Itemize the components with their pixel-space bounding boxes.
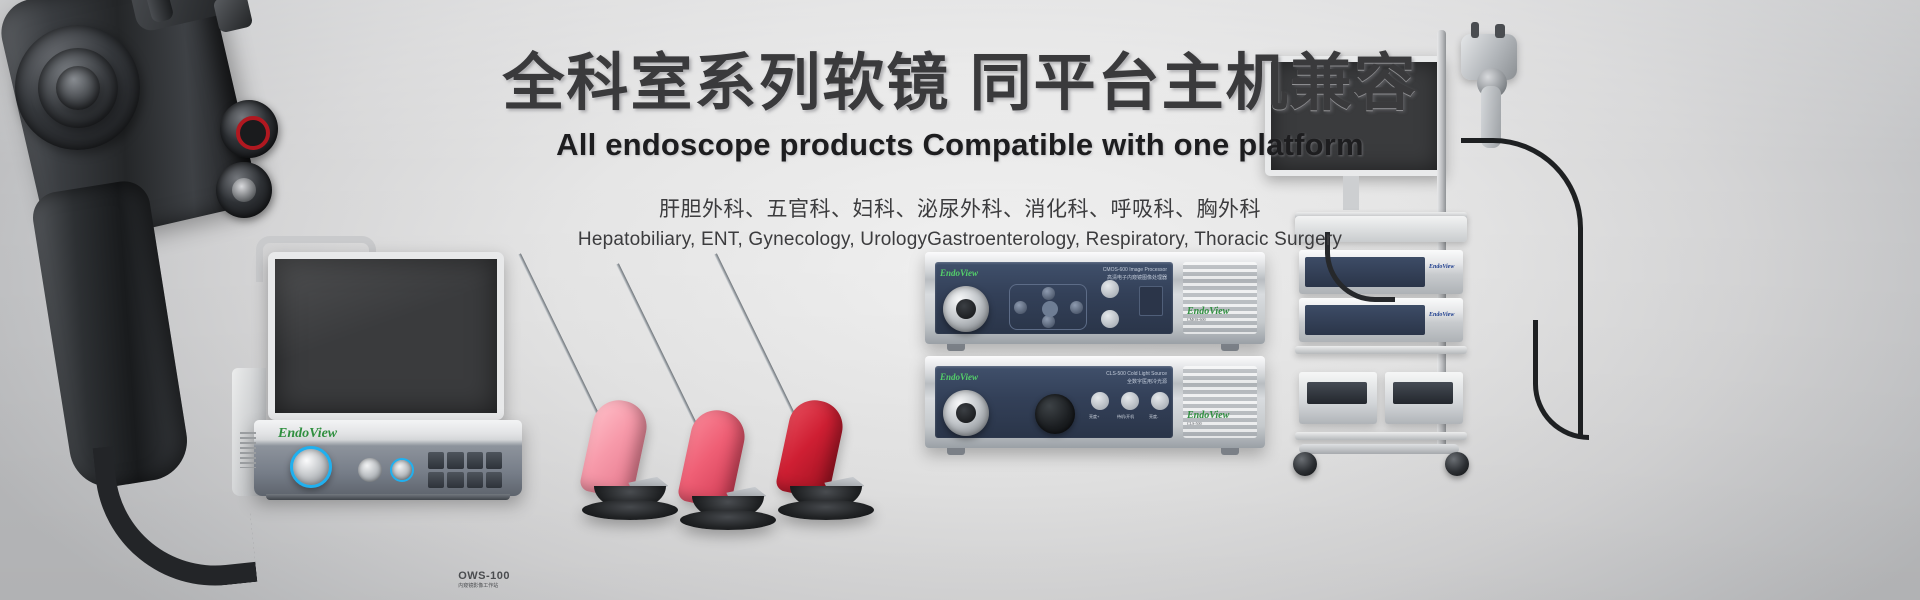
lightsource-vent-grille bbox=[1183, 366, 1257, 438]
workstation-brand-logo: EndoView bbox=[278, 426, 337, 442]
page-subtitle: All endoscope products Compatible with o… bbox=[0, 127, 1920, 163]
workstation-feet bbox=[266, 494, 510, 500]
workstation-model-label: OWS-100 内窥镜影像工作站 bbox=[458, 570, 510, 589]
lightsource-brand-logo: EndoView bbox=[940, 372, 978, 382]
lightsource-foot-left bbox=[947, 448, 965, 455]
cart-shelf-middle bbox=[1295, 346, 1467, 354]
brand-suffix: View bbox=[1209, 306, 1229, 317]
brand-prefix: Endo bbox=[940, 268, 960, 278]
lightsource-button-2 bbox=[1121, 392, 1139, 410]
promo-banner: 全科室系列软镜 同平台主机兼容 All endoscope products C… bbox=[0, 0, 1920, 600]
processor-usb-port bbox=[1139, 286, 1163, 316]
cart-shelf-bottom bbox=[1295, 432, 1467, 440]
cart-wheel-right bbox=[1445, 452, 1469, 476]
brand-prefix: Endo bbox=[940, 372, 960, 382]
lightsource-front-panel: EndoView CLS-500 Cold Light Source 全数字医用… bbox=[935, 366, 1173, 438]
workstation-main-connector bbox=[290, 446, 332, 488]
lightsource-title-en: CLS-500 Cold Light Source bbox=[1106, 371, 1167, 379]
processor-foot-left bbox=[947, 344, 965, 351]
workstation-keypad bbox=[428, 452, 502, 488]
brand-prefix: Endo bbox=[1187, 410, 1209, 421]
instrument-stand bbox=[778, 500, 874, 520]
lightsource-label-3: 亮度- bbox=[1149, 414, 1158, 420]
lightsource-label-1: 亮度+ bbox=[1089, 414, 1099, 420]
processor-side-model: CMOS-600 bbox=[1187, 317, 1229, 322]
departments-chinese: 肝胆外科、五官科、妇科、泌尿外科、消化科、呼吸科、胸外科 bbox=[0, 193, 1920, 223]
headline-block: 全科室系列软镜 同平台主机兼容 All endoscope products C… bbox=[0, 48, 1920, 251]
processor-foot-right bbox=[1221, 344, 1239, 351]
page-title: 全科室系列软镜 同平台主机兼容 bbox=[0, 48, 1920, 119]
workstation-port-1 bbox=[358, 458, 382, 482]
departments-english: Hepatobiliary, ENT, Gynecology, UrologyG… bbox=[0, 229, 1920, 251]
lightsource-brightness-dial bbox=[1035, 394, 1075, 434]
brand-prefix: Endo bbox=[1187, 306, 1209, 317]
cart-wheel-left bbox=[1293, 452, 1317, 476]
processor-enter-button bbox=[1101, 310, 1119, 328]
cart-base bbox=[1299, 444, 1459, 454]
cart-processor-2-panel bbox=[1305, 305, 1425, 335]
scope-button-block bbox=[213, 0, 254, 33]
brand-suffix: View bbox=[1442, 312, 1454, 318]
lightsource-button-1 bbox=[1091, 392, 1109, 410]
image-processor-unit: EndoView CMOS-600 Image Processor 高清电子内窥… bbox=[925, 252, 1265, 344]
rigid-instrument-red bbox=[708, 250, 878, 550]
workstation-port-2 bbox=[390, 458, 414, 482]
brand-prefix: Endo bbox=[1429, 264, 1442, 270]
processor-light-button bbox=[1101, 280, 1119, 298]
brand-suffix: View bbox=[960, 268, 978, 278]
lightsource-foot-right bbox=[1221, 448, 1239, 455]
ows-workstation: OWS-100 内窥镜影像工作站 EndoView bbox=[232, 250, 542, 500]
processor-side-brand: EndoView CMOS-600 bbox=[1187, 306, 1229, 322]
processor-brand-logo: EndoView bbox=[940, 268, 978, 278]
brand-suffix: View bbox=[1209, 410, 1229, 421]
brand-prefix: EndoV bbox=[278, 426, 318, 441]
processor-scope-connector bbox=[943, 286, 989, 332]
workstation-model-text: OWS-100 bbox=[458, 570, 510, 582]
workstation-model-subtext: 内窥镜影像工作站 bbox=[458, 582, 510, 589]
workstation-display bbox=[268, 252, 504, 420]
brand-suffix: View bbox=[1442, 264, 1454, 270]
processor-stack: EndoView CMOS-600 Image Processor 高清电子内窥… bbox=[925, 252, 1275, 462]
processor-front-panel: EndoView CMOS-600 Image Processor 高清电子内窥… bbox=[935, 262, 1173, 334]
lightsource-label-2: 待机/开机 bbox=[1117, 414, 1134, 420]
cart-lower-device-left bbox=[1299, 372, 1377, 424]
lightsource-side-brand: EndoView CLS-500 bbox=[1187, 410, 1229, 426]
lightsource-scope-connector bbox=[943, 390, 989, 436]
brand-prefix: Endo bbox=[1429, 312, 1442, 318]
workstation-vent bbox=[240, 432, 256, 468]
brand-suffix: View bbox=[960, 372, 978, 382]
cart-processor-1-brand: EndoView bbox=[1429, 264, 1454, 270]
brand-suffix: iew bbox=[318, 426, 337, 441]
instrument-shaft bbox=[616, 263, 697, 424]
light-source-unit: EndoView CLS-500 Cold Light Source 全数字医用… bbox=[925, 356, 1265, 448]
lightsource-title-cn: 全数字医用冷光源 bbox=[1106, 379, 1167, 387]
lightsource-title-label: CLS-500 Cold Light Source 全数字医用冷光源 bbox=[1106, 371, 1167, 386]
processor-title-en: CMOS-600 Image Processor bbox=[1103, 267, 1167, 275]
lightsource-side-model: CLS-500 bbox=[1187, 421, 1229, 426]
cart-processor-2-brand: EndoView bbox=[1429, 312, 1454, 318]
processor-dpad bbox=[1009, 284, 1087, 330]
cart-lower-device-right bbox=[1385, 372, 1463, 424]
processor-vent-grille bbox=[1183, 262, 1257, 334]
instrument-shaft bbox=[714, 253, 795, 414]
cart-processor-2: EndoView bbox=[1299, 298, 1463, 342]
lightsource-button-3 bbox=[1151, 392, 1169, 410]
